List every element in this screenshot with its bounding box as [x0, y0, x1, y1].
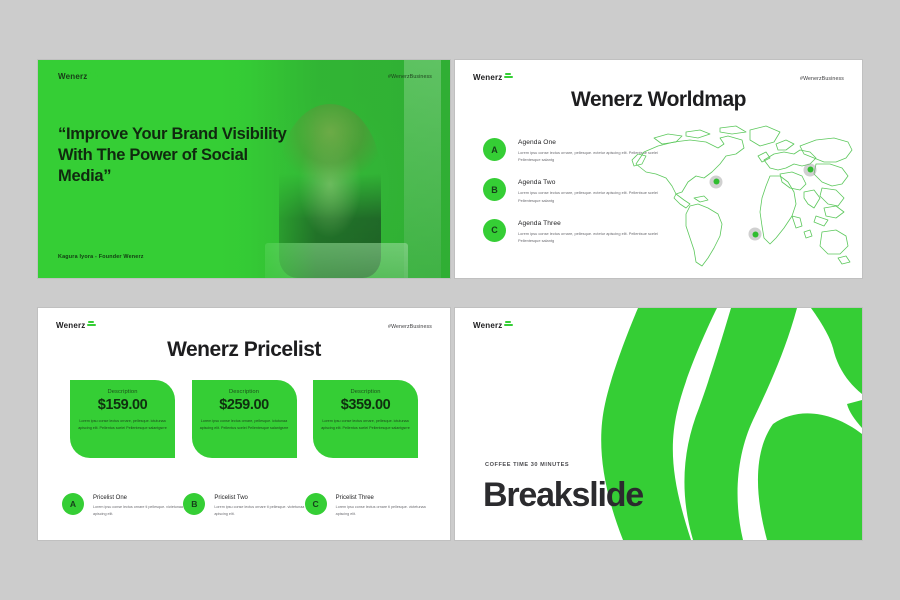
marker-dot-icon — [807, 167, 813, 173]
price-card-description: Description — [78, 389, 167, 395]
price-card-amount: $259.00 — [200, 397, 289, 413]
pricelist-item-title: Pricelist Three — [336, 495, 426, 501]
brand-logo-mark-icon — [504, 321, 513, 328]
slide-break[interactable]: Wenerz COFFEE TIME 30 MINUTES Breakslide — [455, 308, 862, 540]
pricelist-item-title: Pricelist One — [93, 495, 183, 501]
pricelist-item-body: Lorem ipsu conse lectus ornare ti pelles… — [93, 504, 183, 518]
pricelist-item-body: Lorem ipsu conse lectus ornare ti pelles… — [214, 504, 304, 518]
slide-hashtag: #WenerzBusiness — [388, 74, 432, 80]
map-marker-south-america[interactable] — [749, 228, 762, 241]
marker-dot-icon — [713, 179, 719, 185]
agenda-badge: A — [483, 138, 506, 161]
price-card[interactable]: Description $259.00 Lorem ipsu conse lec… — [192, 380, 297, 458]
marker-halo-icon — [749, 228, 762, 241]
price-card-body: Lorem ipsu conse lectus ornare, pellesqu… — [321, 418, 410, 433]
map-marker-europe-russia[interactable] — [804, 163, 817, 176]
brand-logo[interactable]: Wenerz — [56, 322, 96, 330]
price-card-amount: $359.00 — [321, 397, 410, 413]
price-card-body: Lorem ipsu conse lectus ornare, pellesqu… — [78, 418, 167, 433]
list-item[interactable]: C Pricelist Three Lorem ipsu conse lectu… — [305, 493, 426, 518]
pricelist-badge: B — [183, 493, 205, 515]
slide-pricelist[interactable]: Wenerz #WenerzBusiness Wenerz Pricelist … — [38, 308, 450, 540]
brand-logo-text: Wenerz — [473, 74, 503, 82]
brand-logo-text: Wenerz — [56, 322, 86, 330]
brand-logo-text: Wenerz — [58, 73, 88, 81]
list-item[interactable]: A Pricelist One Lorem ipsu conse lectus … — [62, 493, 183, 518]
brand-logo-mark-icon — [89, 72, 98, 79]
pricelist-badge: C — [305, 493, 327, 515]
brand-logo[interactable]: Wenerz — [473, 74, 513, 82]
marker-dot-icon — [752, 231, 758, 237]
hero-credit: Kagura Iyora - Founder Wenerz — [58, 254, 144, 260]
price-card-description: Description — [200, 389, 289, 395]
list-item[interactable]: B Pricelist Two Lorem ipsu conse lectus … — [183, 493, 304, 518]
slide-title[interactable]: Wenerz #WenerzBusiness “Improve Your Bra… — [38, 60, 450, 278]
brand-logo[interactable]: Wenerz — [58, 73, 98, 81]
price-card[interactable]: Description $159.00 Lorem ipsu conse lec… — [70, 380, 175, 458]
agenda-badge: B — [483, 178, 506, 201]
world-map-outline-icon — [624, 120, 854, 270]
slide-worldmap[interactable]: Wenerz #WenerzBusiness Wenerz Worldmap A… — [455, 60, 862, 278]
hero-quote: “Improve Your Brand Visibility With The … — [58, 124, 288, 187]
slide-hashtag: #WenerzBusiness — [800, 76, 844, 82]
map-marker-north-america[interactable] — [710, 175, 723, 188]
price-card[interactable]: Description $359.00 Lorem ipsu conse lec… — [313, 380, 418, 458]
price-card-body: Lorem ipsu conse lectus ornare, pellesqu… — [200, 418, 289, 433]
break-title: Breakslide — [483, 478, 643, 512]
slide-hashtag: #WenerzBusiness — [388, 324, 432, 330]
pricelist-badge: A — [62, 493, 84, 515]
agenda-badge: C — [483, 219, 506, 242]
price-card-description: Description — [321, 389, 410, 395]
price-card-amount: $159.00 — [78, 397, 167, 413]
brand-logo[interactable]: Wenerz — [473, 322, 513, 330]
slide-deck-preview: Wenerz #WenerzBusiness “Improve Your Bra… — [0, 0, 900, 600]
price-card-group: Description $159.00 Lorem ipsu conse lec… — [70, 380, 418, 458]
brand-logo-mark-icon — [504, 73, 513, 80]
marker-halo-icon — [804, 163, 817, 176]
page-title: Wenerz Pricelist — [38, 338, 450, 362]
break-eyebrow: COFFEE TIME 30 MINUTES — [485, 462, 569, 468]
pricelist-item-title: Pricelist Two — [214, 495, 304, 501]
brand-logo-mark-icon — [87, 321, 96, 328]
marker-halo-icon — [710, 175, 723, 188]
world-map — [624, 120, 854, 270]
brand-logo-text: Wenerz — [473, 322, 503, 330]
page-title: Wenerz Worldmap — [455, 88, 862, 112]
pricelist-item-group: A Pricelist One Lorem ipsu conse lectus … — [62, 493, 426, 518]
pricelist-item-body: Lorem ipsu conse lectus ornare ti pelles… — [336, 504, 426, 518]
